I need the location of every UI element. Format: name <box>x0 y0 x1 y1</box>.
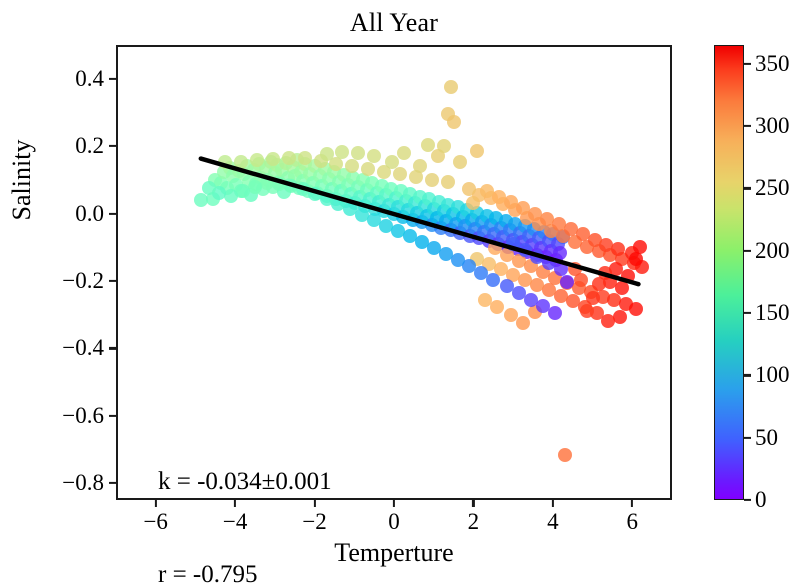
colorbar: 050100150200250300350 <box>714 45 744 500</box>
scatter-point <box>320 192 334 206</box>
x-axis-label: Temperture <box>116 538 672 568</box>
y-tick-mark <box>109 212 116 214</box>
scatter-point <box>548 306 562 320</box>
scatter-point <box>566 294 580 308</box>
scatter-point <box>282 151 296 165</box>
scatter-point <box>542 283 556 297</box>
scatter-point <box>335 145 349 159</box>
scatter-point <box>447 115 461 129</box>
scatter-point <box>564 222 578 236</box>
scatter-point <box>393 167 407 181</box>
scatter-point <box>361 162 375 176</box>
scatter-point <box>466 196 480 210</box>
colorbar-tick-label: 0 <box>755 487 767 513</box>
x-tick-mark <box>234 500 236 507</box>
scatter-point <box>425 173 439 187</box>
scatter-point <box>444 80 458 94</box>
scatter-point <box>224 189 238 203</box>
scatter-point <box>462 259 476 273</box>
scatter-point <box>248 180 262 194</box>
scatter-point <box>540 212 554 226</box>
x-tick-label: −4 <box>223 509 247 535</box>
scatter-point <box>250 153 264 167</box>
y-axis-label: Salinity <box>7 70 37 290</box>
colorbar-tick-mark <box>744 187 751 189</box>
scatter-point <box>367 149 381 163</box>
scatter-point <box>379 219 393 233</box>
colorbar-tick-label: 350 <box>755 51 790 77</box>
scatter-point <box>490 300 504 314</box>
scatter-point <box>580 304 594 318</box>
x-tick-label: 4 <box>547 509 559 535</box>
scatter-point <box>320 147 334 161</box>
scatter-point <box>397 146 411 160</box>
scatter-point <box>451 253 465 267</box>
scatter-point <box>234 155 248 169</box>
scatter-point <box>480 184 494 198</box>
x-tick-mark <box>313 500 315 507</box>
scatter-point <box>427 241 441 255</box>
scatter-point <box>284 179 298 193</box>
colorbar-tick-mark <box>744 374 751 376</box>
scatter-point <box>296 182 310 196</box>
y-tick-mark <box>109 347 116 349</box>
scatter-point <box>403 229 417 243</box>
scatter-point <box>504 195 518 209</box>
x-tick-label: 6 <box>627 509 639 535</box>
scatter-point <box>437 139 451 153</box>
colorbar-gradient <box>714 45 744 500</box>
scatter-point <box>613 310 627 324</box>
scatter-point <box>367 213 381 227</box>
y-tick-mark <box>109 415 116 417</box>
scatter-point <box>592 277 606 291</box>
scatter-point <box>441 175 455 189</box>
colorbar-tick-mark <box>744 312 751 314</box>
colorbar-tick-mark <box>744 63 751 65</box>
scatter-point <box>453 155 467 169</box>
scatter-point <box>202 181 216 195</box>
scatter-point <box>391 224 405 238</box>
scatter-point <box>298 151 312 165</box>
scatter-point <box>528 207 542 221</box>
x-tick-label: −2 <box>302 509 326 535</box>
scatter-plot-figure: All Year k = -0.034±0.001 r = -0.795 −6−… <box>0 0 800 587</box>
scatter-point <box>343 202 357 216</box>
x-tick-mark <box>631 500 633 507</box>
scatter-point <box>415 235 429 249</box>
scatter-point <box>218 155 232 169</box>
scatter-point <box>355 208 369 222</box>
scatter-point <box>500 279 514 293</box>
colorbar-tick-label: 250 <box>755 175 790 201</box>
colorbar-tick-label: 150 <box>755 300 790 326</box>
x-tick-mark <box>472 500 474 507</box>
scatter-point <box>512 286 526 300</box>
scatter-point <box>462 182 476 196</box>
scatter-point <box>331 197 345 211</box>
colorbar-tick-label: 200 <box>755 238 790 264</box>
scatter-point <box>530 278 544 292</box>
scatter-point <box>629 252 643 266</box>
y-tick-mark <box>109 280 116 282</box>
scatter-point <box>576 227 590 241</box>
scatter-point <box>558 448 572 462</box>
scatter-point <box>486 273 500 287</box>
scatter-point <box>474 266 488 280</box>
y-tick-label: −0.4 <box>9 335 104 361</box>
scatter-point <box>272 177 286 191</box>
scatter-point <box>470 144 484 158</box>
x-tick-label: −6 <box>143 509 167 535</box>
scatter-point <box>518 273 532 287</box>
scatter-point <box>413 159 427 173</box>
scatter-point <box>601 314 615 328</box>
scatter-point <box>554 289 568 303</box>
colorbar-tick-mark <box>744 125 751 127</box>
y-tick-mark <box>109 145 116 147</box>
colorbar-tick-mark <box>744 499 751 501</box>
y-tick-label: −0.6 <box>9 403 104 429</box>
colorbar-tick-label: 50 <box>755 425 778 451</box>
scatter-point <box>421 138 435 152</box>
scatter-point <box>611 242 625 256</box>
scatter-point <box>516 201 530 215</box>
scatter-point <box>439 247 453 261</box>
scatter-point <box>351 146 365 160</box>
scatter-point <box>615 281 629 295</box>
scatter-point <box>260 176 274 190</box>
colorbar-tick-mark <box>744 437 751 439</box>
x-tick-mark <box>552 500 554 507</box>
colorbar-tick-mark <box>744 250 751 252</box>
x-tick-mark <box>393 500 395 507</box>
scatter-point <box>588 233 602 247</box>
annotation-slope: k = -0.034±0.001 <box>158 466 332 497</box>
y-tick-mark <box>109 78 116 80</box>
scatter-point <box>385 155 399 169</box>
scatter-point <box>553 246 567 260</box>
scatter-point <box>552 217 566 231</box>
scatter-point <box>560 275 574 289</box>
scatter-point <box>236 184 250 198</box>
scatter-point <box>629 302 643 316</box>
x-tick-mark <box>155 500 157 507</box>
scatter-point <box>345 159 359 173</box>
x-tick-label: 2 <box>468 509 480 535</box>
colorbar-tick-label: 100 <box>755 362 790 388</box>
y-tick-mark <box>109 482 116 484</box>
scatter-point <box>599 238 613 252</box>
scatter-point <box>266 152 280 166</box>
colorbar-tick-label: 300 <box>755 113 790 139</box>
page-title: All Year <box>116 8 672 38</box>
x-tick-label: 0 <box>388 509 400 535</box>
scatter-point <box>516 316 530 330</box>
scatter-point <box>308 187 322 201</box>
y-tick-label: −0.8 <box>9 470 104 496</box>
scatter-point <box>492 190 506 204</box>
